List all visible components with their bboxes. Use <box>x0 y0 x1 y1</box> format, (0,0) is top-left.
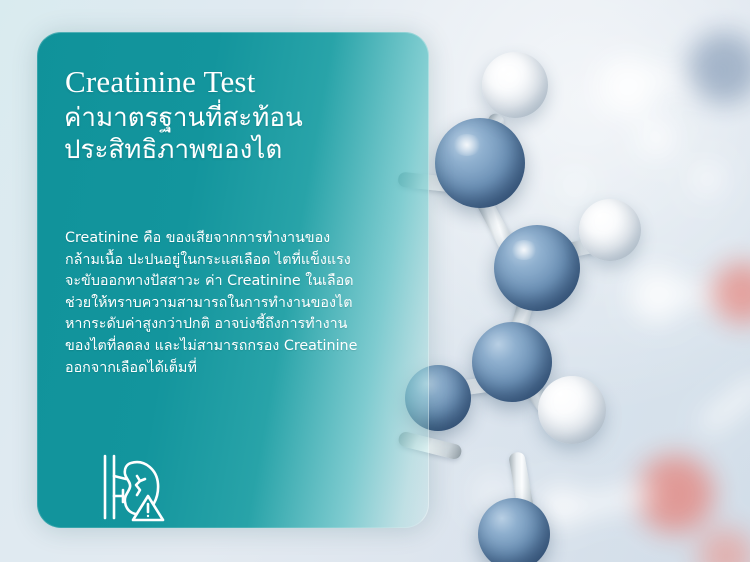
poster-canvas: Creatinine Test ค่ามาตรฐานที่สะท้อน ประส… <box>0 0 750 562</box>
page-title-thai: ค่ามาตรฐานที่สะท้อน ประสิทธิภาพของไต <box>64 102 409 166</box>
body-text-line: กล้ามเนื้อ ปะปนอยู่ในกระแสเลือด ไตที่แข็… <box>65 250 425 272</box>
body-text-line: จะขับออกทางปัสสาวะ ค่า Creatinine ในเลือ… <box>65 271 425 293</box>
warning-exclaim-dot <box>147 515 149 517</box>
atom-highlight <box>452 134 482 156</box>
body-text-line: ของไตที่ลดลง และไม่สามารถกรอง Creatinine <box>65 336 425 358</box>
info-card: Creatinine Test ค่ามาตรฐานที่สะท้อน ประส… <box>37 32 429 528</box>
body-text-line: ช่วยให้ทราบความสามารถในการทำงานของไต <box>65 293 425 315</box>
body-text-line: ออกจากเลือดได้เต็มที่ <box>65 358 425 380</box>
atom-blue <box>494 225 580 311</box>
atom-blue <box>478 498 550 562</box>
atom-white <box>482 52 548 118</box>
kidney-warning-icon <box>99 452 173 528</box>
kidney-vessel-branch <box>140 479 145 481</box>
body-text: Creatinine คือ ของเสียจากการทำงานของ กล้… <box>65 228 425 379</box>
atom-white <box>538 376 606 444</box>
body-text-line: หากระดับค่าสูงกว่าปกติ อาจบ่งชี้ถึงการทำ… <box>65 314 425 336</box>
atom-blue <box>472 322 552 402</box>
body-text-line: Creatinine คือ ของเสียจากการทำงานของ <box>65 228 425 250</box>
atom-blue <box>435 118 525 208</box>
page-title-english: Creatinine Test <box>65 64 256 100</box>
kidney-vessel-detail <box>136 476 140 495</box>
page-title-thai-line-1: ค่ามาตรฐานที่สะท้อน <box>64 102 409 134</box>
atom-highlight <box>498 66 522 84</box>
atom-white <box>579 199 641 261</box>
atom-highlight <box>510 240 538 260</box>
page-title-thai-line-2: ประสิทธิภาพของไต <box>64 134 409 166</box>
vessel-upper <box>114 476 126 479</box>
